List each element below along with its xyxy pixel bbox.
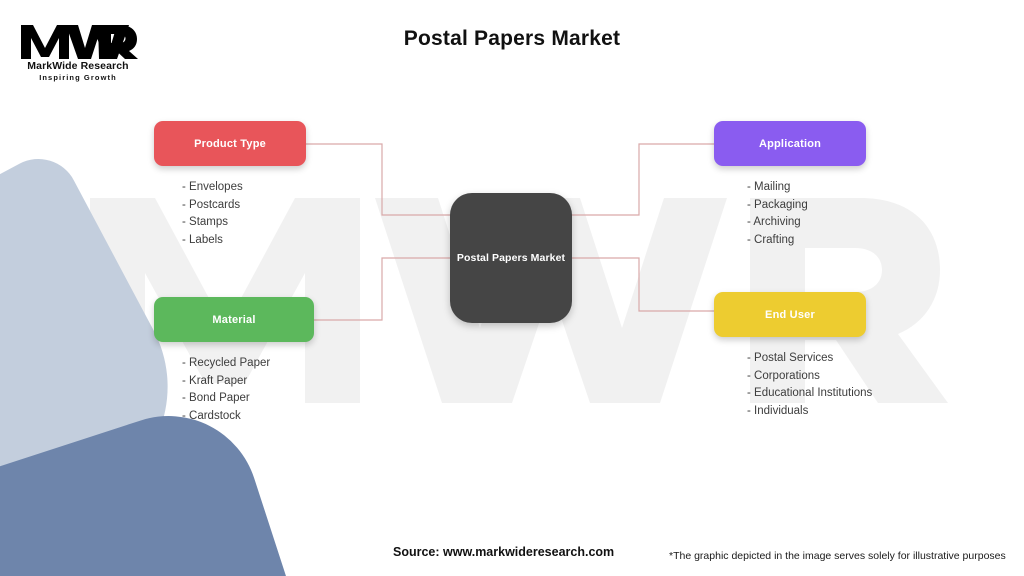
list-item: - Postcards (182, 197, 306, 215)
list-item: - Bond Paper (182, 390, 314, 408)
list-item: - Cardstock (182, 408, 314, 426)
connector-product-type (306, 144, 452, 215)
branch-label-product-type: Product Type (194, 138, 266, 150)
branch-items-application: - Mailing - Packaging - Archiving - Craf… (714, 179, 866, 250)
list-item: - Mailing (747, 179, 866, 197)
list-item: - Archiving (747, 214, 866, 232)
branch-material: Material - Recycled Paper - Kraft Paper … (154, 297, 314, 426)
branch-header-product-type[interactable]: Product Type (154, 121, 306, 166)
footer-disclaimer: *The graphic depicted in the image serve… (669, 550, 1006, 562)
logo-company-name: MarkWide Research (18, 60, 138, 72)
list-item: - Recycled Paper (182, 355, 314, 373)
footer-source: Source: www.markwideresearch.com (393, 545, 614, 559)
branch-label-end-user: End User (765, 309, 815, 321)
center-node-label: Postal Papers Market (457, 252, 565, 264)
branch-items-product-type: - Envelopes - Postcards - Stamps - Label… (154, 179, 306, 250)
branch-items-material: - Recycled Paper - Kraft Paper - Bond Pa… (154, 355, 314, 426)
list-item: - Stamps (182, 214, 306, 232)
connector-material (314, 258, 452, 320)
list-item: - Envelopes (182, 179, 306, 197)
connector-application (570, 144, 714, 215)
list-item: - Labels (182, 232, 306, 250)
list-item: - Educational Institutions (747, 385, 872, 403)
branch-label-material: Material (212, 314, 255, 326)
page-title: Postal Papers Market (0, 27, 1024, 51)
branch-header-material[interactable]: Material (154, 297, 314, 342)
branch-application: Application - Mailing - Packaging - Arch… (714, 121, 866, 250)
connector-end-user (570, 258, 714, 311)
branch-header-end-user[interactable]: End User (714, 292, 866, 337)
branch-header-application[interactable]: Application (714, 121, 866, 166)
list-item: - Postal Services (747, 350, 872, 368)
list-item: - Kraft Paper (182, 373, 314, 391)
list-item: - Corporations (747, 368, 872, 386)
list-item: - Crafting (747, 232, 866, 250)
branch-items-end-user: - Postal Services - Corporations - Educa… (714, 350, 872, 421)
list-item: - Packaging (747, 197, 866, 215)
logo-tagline: Inspiring Growth (18, 73, 138, 82)
center-node[interactable]: Postal Papers Market (450, 193, 572, 323)
list-item: - Individuals (747, 403, 872, 421)
infographic-canvas: MarkWide Research Inspiring Growth Posta… (0, 0, 1024, 576)
branch-product-type: Product Type - Envelopes - Postcards - S… (154, 121, 306, 250)
branch-end-user: End User - Postal Services - Corporation… (714, 292, 872, 421)
branch-label-application: Application (759, 138, 821, 150)
